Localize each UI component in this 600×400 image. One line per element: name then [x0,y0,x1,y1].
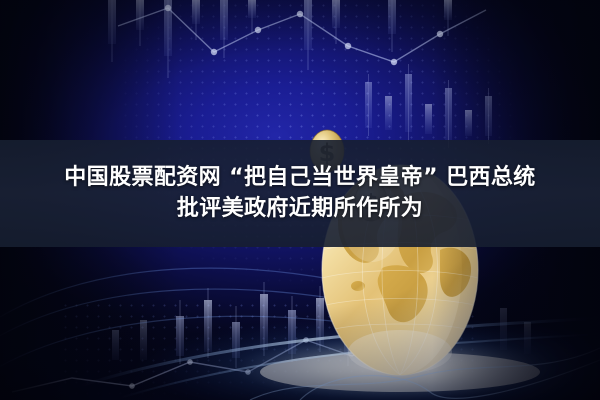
headline-line-2: 批评美政府近期所作所为 [177,197,423,222]
banner-image: $ $ 中国股票配资网 “把自己当世界皇帝” 巴西总统 批评美政府近期所作所为 [0,0,600,400]
headline-line-1: 中国股票配资网 “把自己当世界皇帝” 巴西总统 [64,166,535,191]
headline-text: 中国股票配资网 “把自己当世界皇帝” 巴西总统 批评美政府近期所作所为 [0,140,600,247]
